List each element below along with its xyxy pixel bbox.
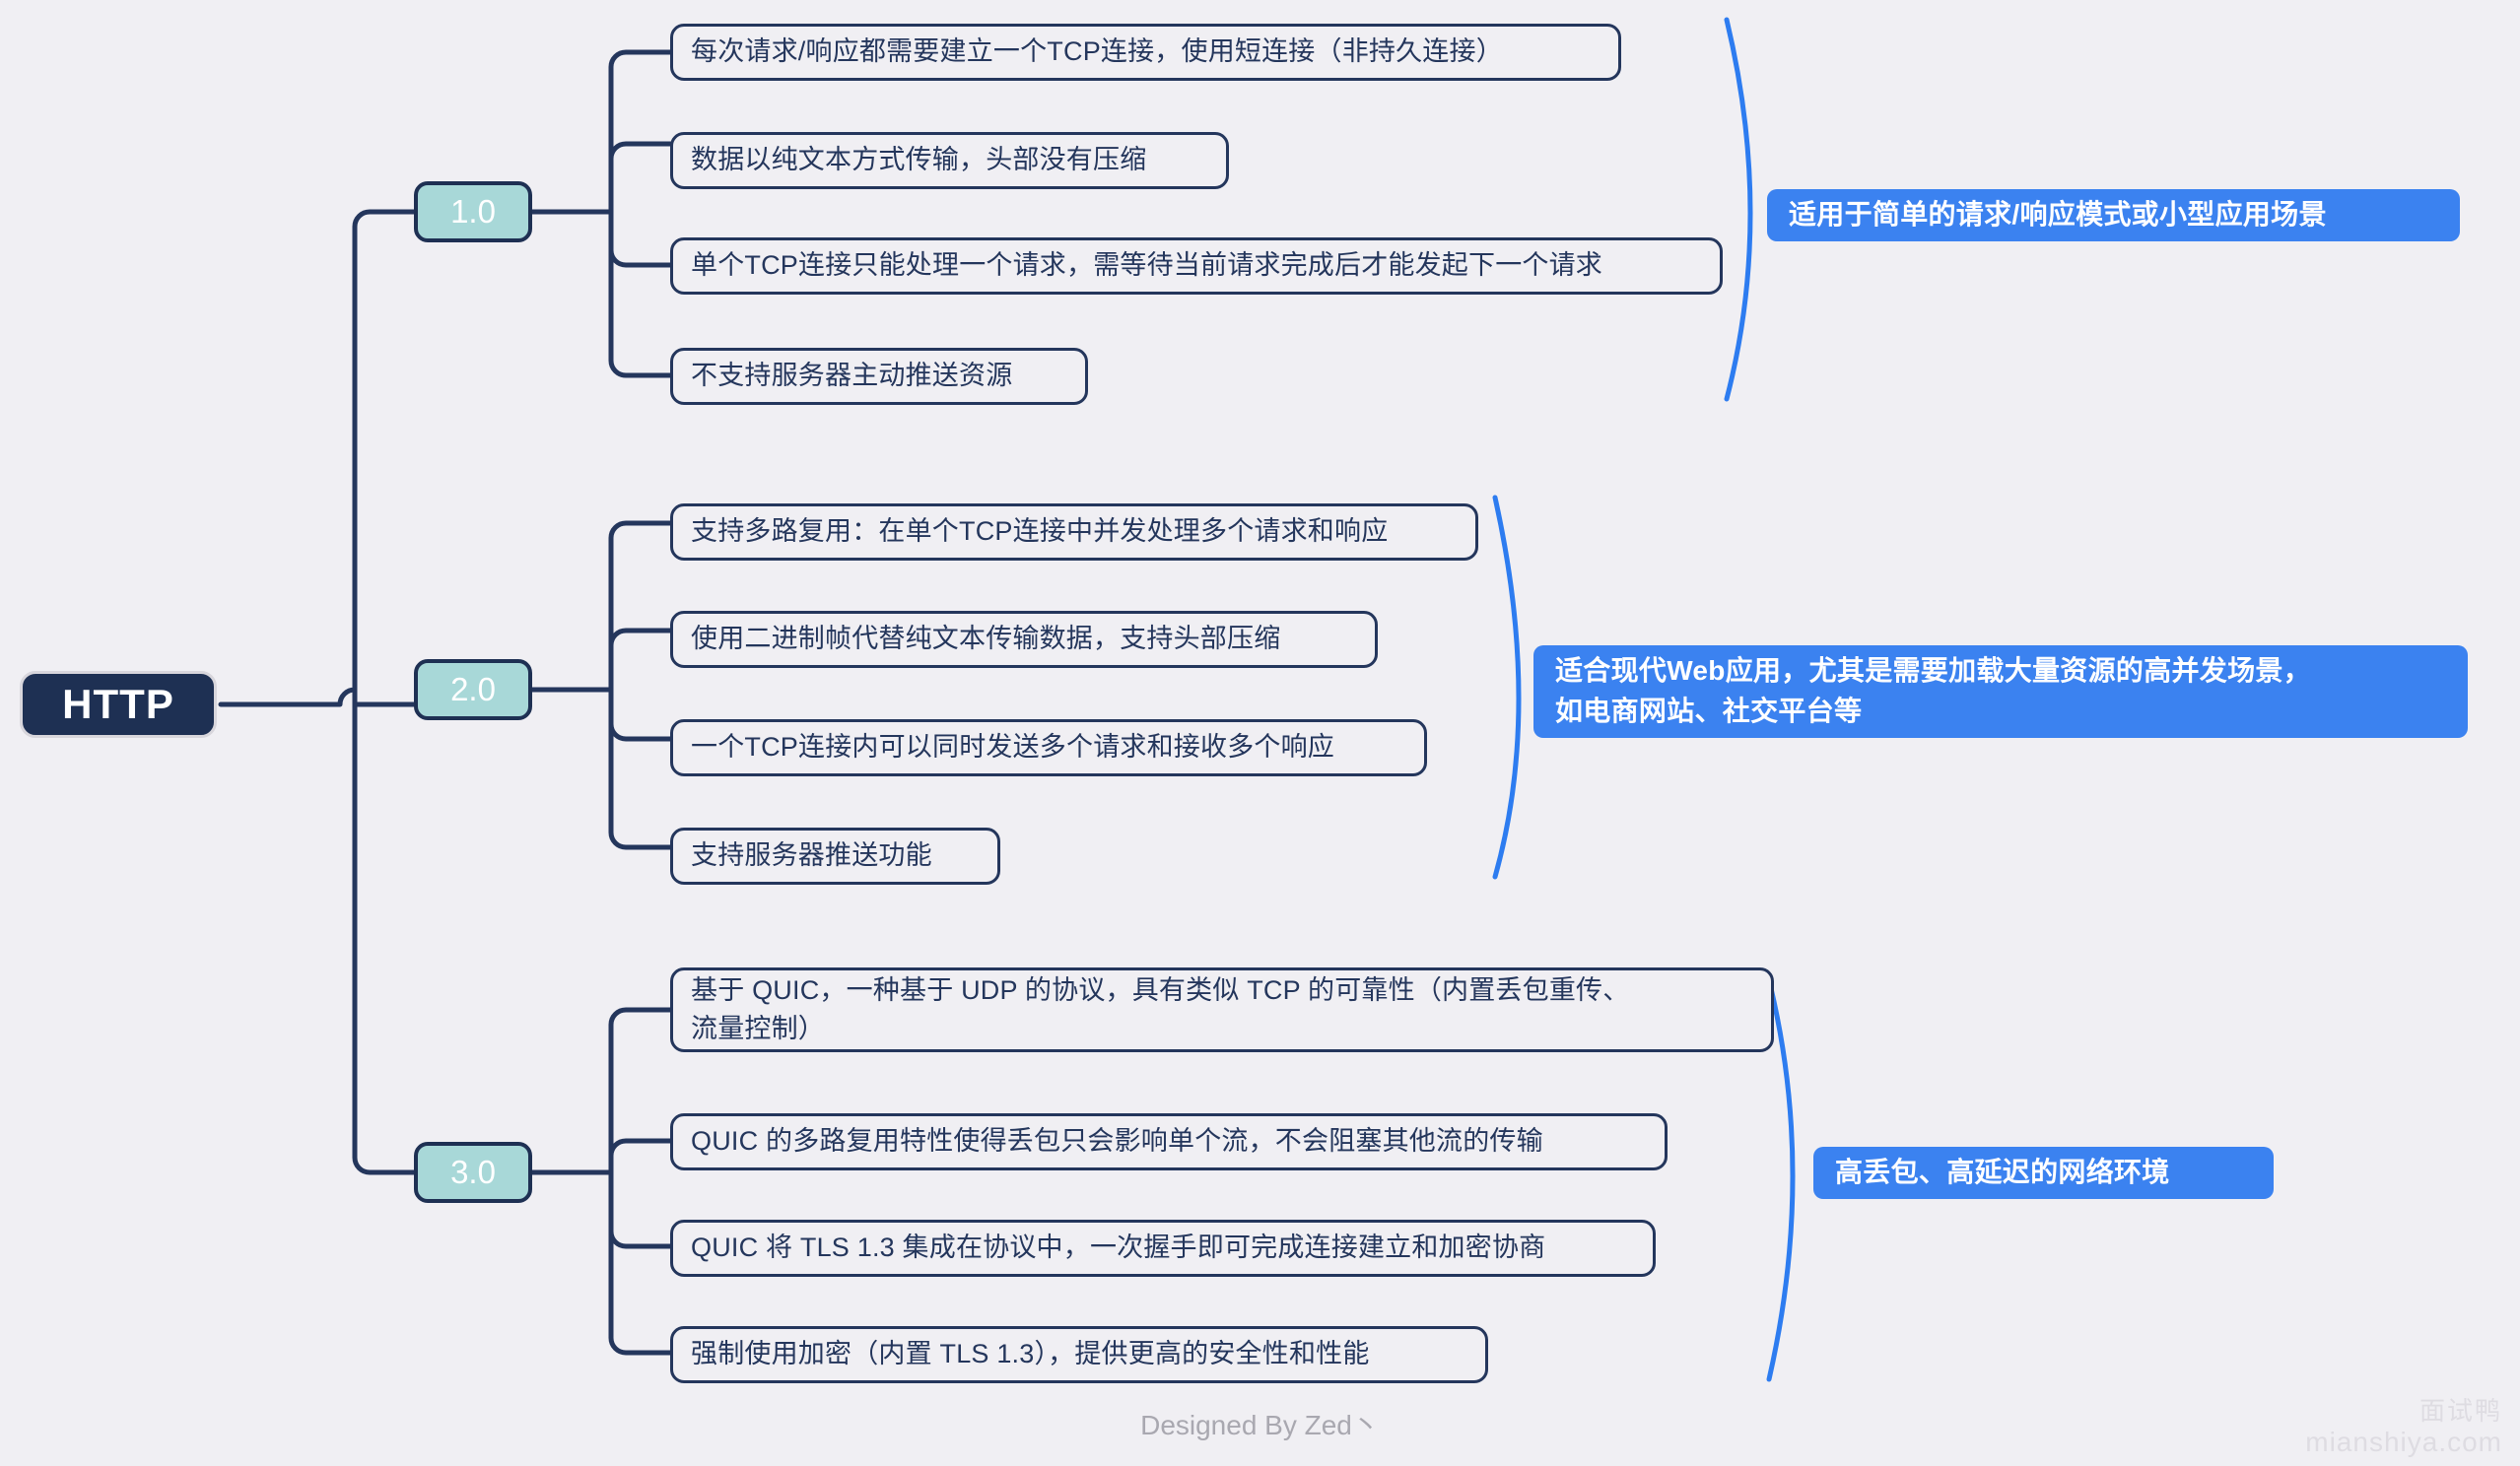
wire-v1-c4 xyxy=(611,212,670,375)
detail-text: 支持服务器推送功能 xyxy=(691,836,932,875)
version-node-2[interactable]: 2.0 xyxy=(414,659,532,720)
wire-v1-c3 xyxy=(611,212,670,265)
detail-box-1-3[interactable]: 单个TCP连接只能处理一个请求，需等待当前请求完成后才能发起下一个请求 xyxy=(670,237,1723,295)
detail-box-2-2[interactable]: 使用二进制帧代替纯文本传输数据，支持头部压缩 xyxy=(670,611,1378,668)
detail-text: QUIC 将 TLS 1.3 集成在协议中，一次握手即可完成连接建立和加密协商 xyxy=(691,1229,1545,1267)
bracket-v1 xyxy=(1727,20,1750,399)
detail-box-3-1[interactable]: 基于 QUIC，一种基于 UDP 的协议，具有类似 TCP 的可靠性（内置丢包重… xyxy=(670,967,1774,1052)
wire-v2-c2 xyxy=(611,631,670,690)
version-label-3: 3.0 xyxy=(450,1154,496,1191)
summary-pill-1[interactable]: 适用于简单的请求/响应模式或小型应用场景 xyxy=(1767,189,2460,241)
summary-text: 适合现代Web应用，尤其是需要加载大量资源的高并发场景， 如电商网站、社交平台等 xyxy=(1555,651,2311,731)
summary-pill-2[interactable]: 适合现代Web应用，尤其是需要加载大量资源的高并发场景， 如电商网站、社交平台等 xyxy=(1533,645,2468,738)
version-node-1[interactable]: 1.0 xyxy=(414,181,532,242)
root-label: HTTP xyxy=(62,681,174,728)
detail-box-2-4[interactable]: 支持服务器推送功能 xyxy=(670,828,1000,885)
watermark-cn: 面试鸭 xyxy=(2305,1397,2502,1427)
version-label-2: 2.0 xyxy=(450,671,496,708)
detail-text: 强制使用加密（内置 TLS 1.3），提供更高的安全性和性能 xyxy=(691,1335,1370,1373)
wire-v2-c1 xyxy=(611,523,670,690)
wire-v1-c2 xyxy=(611,144,670,212)
version-node-3[interactable]: 3.0 xyxy=(414,1142,532,1203)
wire-v3-c2 xyxy=(611,1141,670,1172)
summary-text: 适用于简单的请求/响应模式或小型应用场景 xyxy=(1789,195,2327,235)
detail-box-3-3[interactable]: QUIC 将 TLS 1.3 集成在协议中，一次握手即可完成连接建立和加密协商 xyxy=(670,1220,1656,1277)
detail-text: 每次请求/响应都需要建立一个TCP连接，使用短连接（非持久连接） xyxy=(691,33,1503,71)
detail-text: 数据以纯文本方式传输，头部没有压缩 xyxy=(691,141,1146,179)
detail-text: 一个TCP连接内可以同时发送多个请求和接收多个响应 xyxy=(691,728,1334,766)
detail-box-1-4[interactable]: 不支持服务器主动推送资源 xyxy=(670,348,1088,405)
detail-box-1-1[interactable]: 每次请求/响应都需要建立一个TCP连接，使用短连接（非持久连接） xyxy=(670,24,1621,81)
detail-text: 支持多路复用：在单个TCP连接中并发处理多个请求和响应 xyxy=(691,512,1388,551)
root-node[interactable]: HTTP xyxy=(20,671,217,738)
wire-v2-c3 xyxy=(611,690,670,739)
wire-to-v3 xyxy=(355,690,414,1172)
detail-text: 单个TCP连接只能处理一个请求，需等待当前请求完成后才能发起下一个请求 xyxy=(691,246,1602,285)
detail-box-3-4[interactable]: 强制使用加密（内置 TLS 1.3），提供更高的安全性和性能 xyxy=(670,1326,1488,1383)
watermark: 面试鸭 mianshiya.com xyxy=(2305,1397,2502,1458)
wire-v1-c1 xyxy=(611,52,670,212)
mindmap-canvas: HTTP 1.0 2.0 3.0 每次请求/响应都需要建立一个TCP连接，使用短… xyxy=(0,0,2520,1466)
detail-text: QUIC 的多路复用特性使得丢包只会影响单个流，不会阻塞其他流的传输 xyxy=(691,1122,1543,1161)
watermark-en: mianshiya.com xyxy=(2305,1427,2502,1458)
detail-text: 不支持服务器主动推送资源 xyxy=(691,357,1012,395)
wire-v3-c3 xyxy=(611,1172,670,1246)
detail-box-2-3[interactable]: 一个TCP连接内可以同时发送多个请求和接收多个响应 xyxy=(670,719,1427,776)
summary-pill-3[interactable]: 高丢包、高延迟的网络环境 xyxy=(1813,1147,2274,1199)
wire-v2-c4 xyxy=(611,690,670,847)
version-label-1: 1.0 xyxy=(450,193,496,231)
summary-text: 高丢包、高延迟的网络环境 xyxy=(1835,1153,2170,1193)
detail-box-2-1[interactable]: 支持多路复用：在单个TCP连接中并发处理多个请求和响应 xyxy=(670,503,1478,561)
wire-v3-c4 xyxy=(611,1172,670,1353)
wire-to-v1 xyxy=(335,212,414,704)
detail-text: 使用二进制帧代替纯文本传输数据，支持头部压缩 xyxy=(691,620,1280,658)
detail-text: 基于 QUIC，一种基于 UDP 的协议，具有类似 TCP 的可靠性（内置丢包重… xyxy=(691,971,1629,1048)
wire-v3-c1 xyxy=(611,1010,670,1172)
bracket-v2 xyxy=(1495,498,1519,877)
detail-box-3-2[interactable]: QUIC 的多路复用特性使得丢包只会影响单个流，不会阻塞其他流的传输 xyxy=(670,1113,1668,1170)
footer-credit: Designed By Zed丶 xyxy=(0,1404,2520,1443)
detail-box-1-2[interactable]: 数据以纯文本方式传输，头部没有压缩 xyxy=(670,132,1229,189)
